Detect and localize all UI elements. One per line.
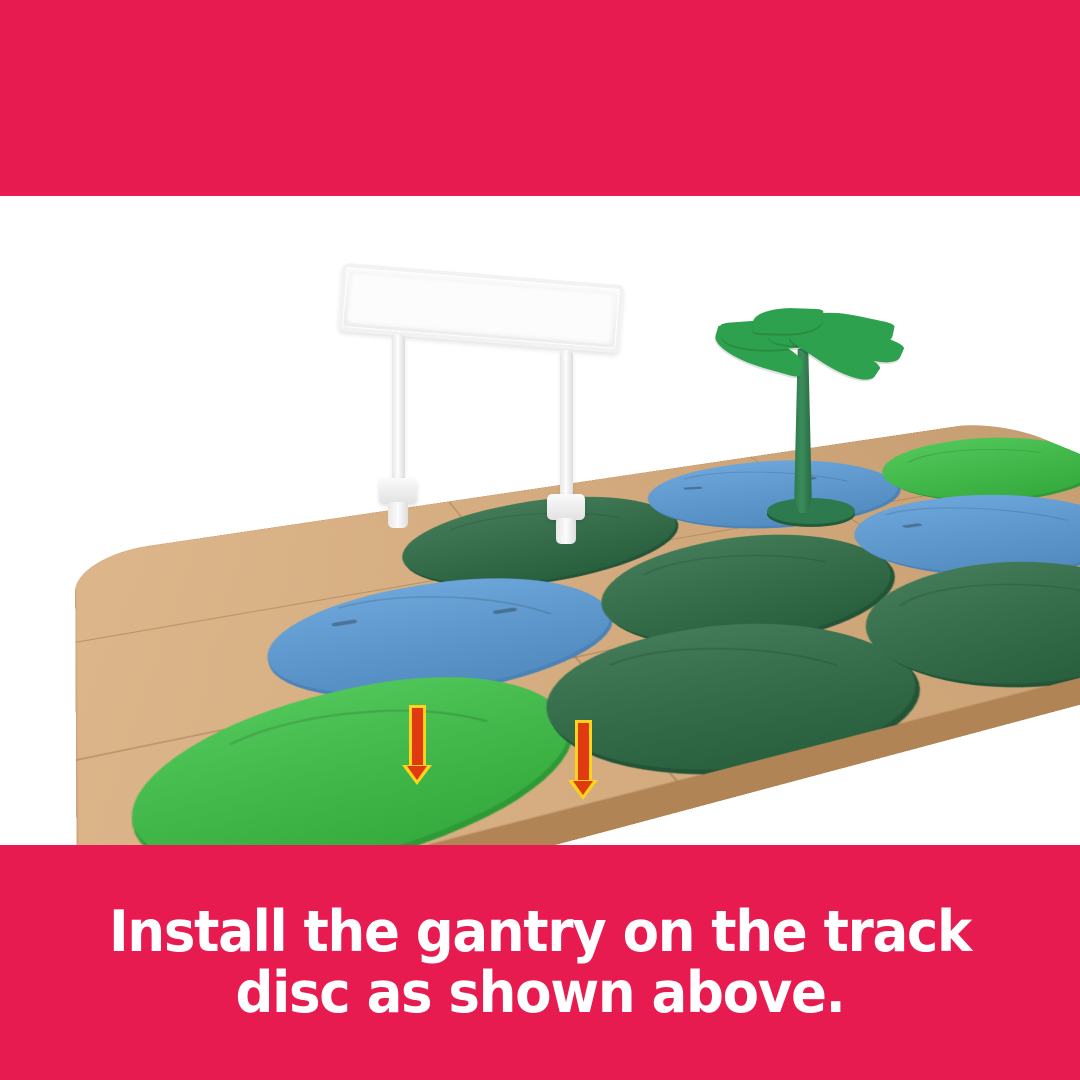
disc-slot <box>331 619 357 627</box>
arrow-head-inner <box>573 781 593 795</box>
arrow-head <box>568 780 598 800</box>
disc-slot <box>683 486 704 489</box>
arrow-head <box>402 765 432 785</box>
disc-groove <box>179 698 552 845</box>
disc-groove <box>879 444 1080 496</box>
palm-tree[interactable] <box>715 292 905 542</box>
instruction-card: mini explorer <box>0 0 1080 1080</box>
gantry-plug-right <box>556 518 576 544</box>
palm-base-disc <box>767 498 855 524</box>
disc-groove <box>859 576 1080 671</box>
instruction-caption: Install the gantry on the track disc as … <box>61 902 1019 1023</box>
bottom-banner: Install the gantry on the track disc as … <box>0 845 1080 1080</box>
disc-groove <box>289 593 588 680</box>
gantry-connector-left <box>379 478 417 504</box>
gantry-leg-right <box>560 350 573 498</box>
disc-groove <box>611 548 906 633</box>
disc-slot <box>492 607 518 614</box>
gantry-leg-left <box>392 334 405 482</box>
arrow-head-inner <box>407 766 427 780</box>
gantry-connector-right <box>547 494 585 520</box>
top-banner <box>0 0 1080 196</box>
gantry-sign-panel <box>346 271 615 344</box>
arrow-shaft <box>575 720 592 780</box>
gantry-sign-board <box>338 263 625 353</box>
arrow-shaft <box>409 705 426 765</box>
gantry[interactable] <box>330 274 630 604</box>
product-illustration <box>0 196 1080 845</box>
gantry-plug-left <box>388 502 408 528</box>
disc-groove <box>575 648 923 746</box>
